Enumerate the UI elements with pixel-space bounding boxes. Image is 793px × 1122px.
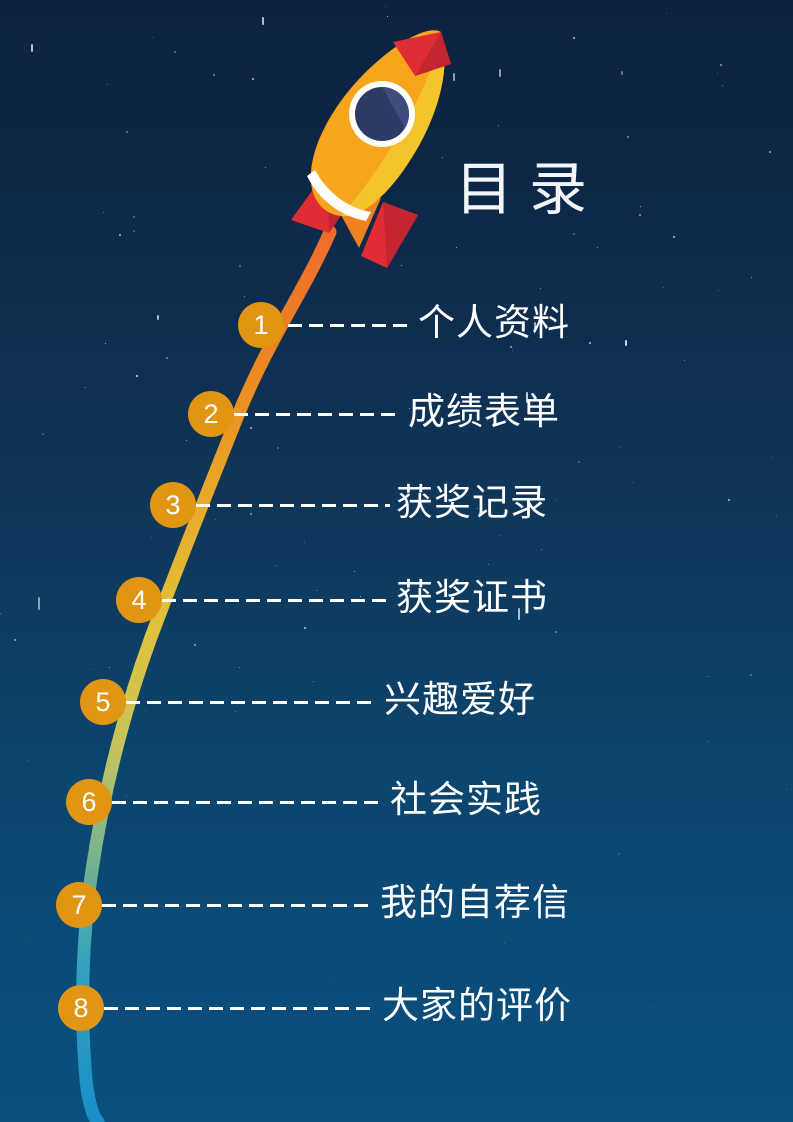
toc-dashes-8 [104, 1007, 376, 1010]
toc-dashes-4 [162, 599, 390, 602]
toc-label-2[interactable]: 成绩表单 [408, 390, 560, 434]
toc-item-7[interactable]: 7 我的自荐信 [0, 879, 793, 931]
toc-item-5[interactable]: 5 兴趣爱好 [0, 676, 793, 728]
rocket-icon [255, 20, 465, 280]
toc-item-4[interactable]: 4 获奖证书 [0, 574, 793, 626]
toc-number-8[interactable]: 8 [58, 985, 104, 1031]
toc-item-6[interactable]: 6 社会实践 [0, 776, 793, 828]
slide-canvas: 目录 1 个人资料 2 成绩表单 3 获奖记录 4 获奖证书 5 兴趣爱好 6 … [0, 0, 793, 1122]
toc-label-4[interactable]: 获奖证书 [396, 576, 548, 620]
toc-item-1[interactable]: 1 个人资料 [0, 299, 793, 351]
toc-number-7[interactable]: 7 [56, 882, 102, 928]
toc-dashes-3 [196, 504, 390, 507]
toc-number-2[interactable]: 2 [188, 391, 234, 437]
toc-number-6[interactable]: 6 [66, 779, 112, 825]
toc-label-3[interactable]: 获奖记录 [396, 481, 548, 525]
toc-label-7[interactable]: 我的自荐信 [380, 881, 570, 925]
toc-label-5[interactable]: 兴趣爱好 [384, 678, 536, 722]
toc-label-6[interactable]: 社会实践 [390, 778, 542, 822]
toc-dashes-7 [102, 904, 374, 907]
rocket-fin-right-shade [383, 202, 418, 268]
toc-number-3[interactable]: 3 [150, 482, 196, 528]
toc-number-1[interactable]: 1 [238, 302, 284, 348]
toc-dashes-1 [288, 324, 412, 327]
toc-number-5[interactable]: 5 [80, 679, 126, 725]
toc-label-1[interactable]: 个人资料 [418, 301, 570, 345]
toc-number-4[interactable]: 4 [116, 577, 162, 623]
toc-dashes-2 [234, 413, 402, 416]
page-title: 目录 [455, 155, 603, 225]
toc-label-8[interactable]: 大家的评价 [382, 984, 572, 1028]
toc-dashes-6 [112, 801, 384, 804]
toc-item-3[interactable]: 3 获奖记录 [0, 479, 793, 531]
toc-dashes-5 [126, 701, 378, 704]
toc-item-8[interactable]: 8 大家的评价 [0, 982, 793, 1034]
toc-item-2[interactable]: 2 成绩表单 [0, 388, 793, 440]
